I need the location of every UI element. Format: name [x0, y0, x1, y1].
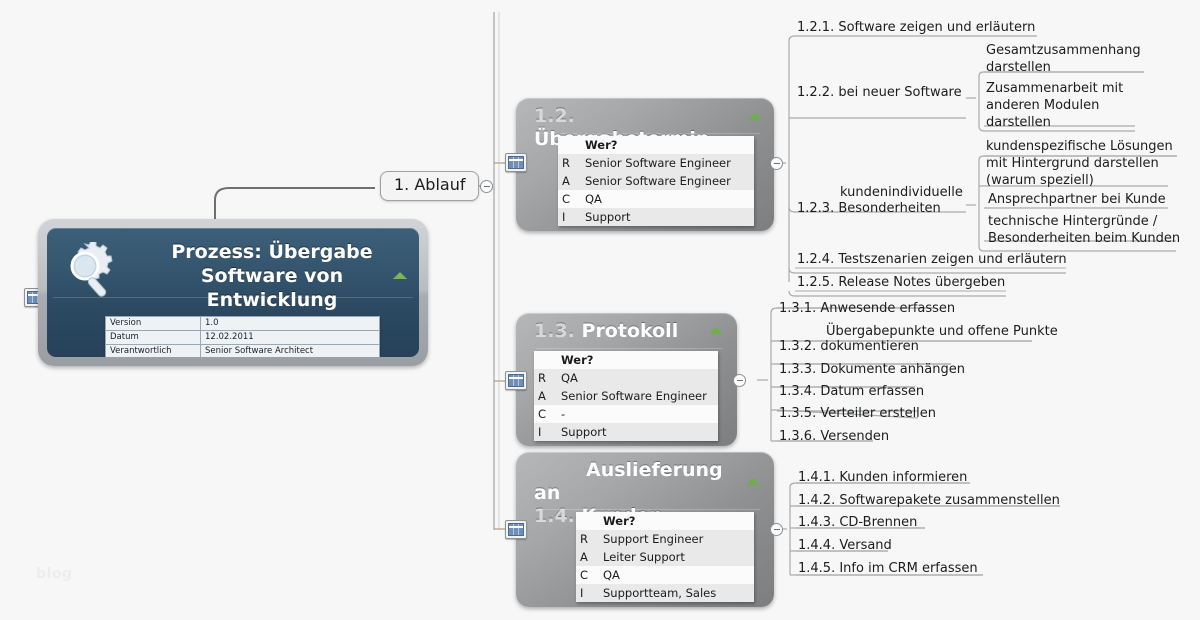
raci-who: Support: [581, 208, 754, 226]
green-triangle-icon-root[interactable]: [393, 272, 407, 279]
raci-spacer: [695, 512, 754, 530]
leaf-1-3-4[interactable]: 1.3.4. Datum erfassen: [779, 383, 924, 400]
node-rule: [536, 348, 723, 349]
watermark: blog: [36, 566, 72, 582]
raci-role: C: [558, 190, 581, 208]
raci-role: I: [558, 208, 581, 226]
table-row: C QA: [558, 190, 754, 208]
leaf-1-4-3[interactable]: 1.4.3. CD-Brennen: [798, 514, 917, 531]
raci-header: Wer?: [599, 512, 695, 530]
table-row: C -: [534, 405, 718, 423]
raci-who: Support Engineer: [599, 530, 754, 548]
table-row: C QA: [576, 566, 754, 584]
raci-who: Senior Software Engineer: [581, 172, 754, 190]
table-row: Wer?: [576, 512, 754, 530]
table-row: Wer?: [558, 136, 754, 154]
collapse-toggle-auslieferung[interactable]: [770, 523, 783, 536]
root-title-line1: Prozess: Übergabe: [171, 241, 372, 263]
raci-role: R: [534, 369, 557, 387]
leaf-1-2-3[interactable]: 1.2.3. Besonderheiten: [797, 200, 941, 217]
leaf-1-2-2[interactable]: 1.2.2. bei neuer Software: [797, 84, 962, 101]
table-row: A Senior Software Engineer: [558, 172, 754, 190]
raci-table-protokoll: Wer? R QA A Senior Software Engineer C -: [534, 351, 718, 441]
raci-role: C: [534, 405, 557, 423]
leaf-1-4-2[interactable]: 1.4.2. Softwarepakete zusammenstellen: [798, 492, 1060, 509]
raci-who: Support: [557, 423, 718, 441]
leaf-1-2-2-a[interactable]: Gesamtzusammenhang darstellen: [986, 42, 1141, 76]
leaf-1-3-2[interactable]: 1.3.2. dokumentieren: [779, 338, 919, 355]
table-row: I Supportteam, Sales: [576, 584, 754, 602]
raci-role: [576, 512, 599, 530]
raci-role: R: [558, 154, 581, 172]
raci-who: QA: [581, 190, 695, 208]
raci-spacer: [695, 136, 754, 154]
leaf-1-2-3-c[interactable]: technische Hintergründe / Besonderheiten…: [988, 213, 1180, 247]
green-triangle-icon-uebergabetermin[interactable]: [748, 113, 762, 120]
leaf-1-4-1[interactable]: 1.4.1. Kunden informieren: [798, 469, 967, 486]
spreadsheet-icon-protokoll[interactable]: [505, 371, 527, 390]
meta-key: Datum: [106, 331, 201, 345]
meta-key: Verantwortlich: [106, 345, 201, 358]
raci-spacer: [659, 405, 718, 423]
node-title-text: Auslieferung an: [534, 459, 723, 504]
root-node-body: Prozess: ÜbergabeSoftware von Entwicklun…: [47, 228, 419, 357]
raci-table-uebergabetermin: Wer? R Senior Software Engineer A Senior…: [558, 136, 754, 226]
raci-role: A: [558, 172, 581, 190]
raci-role: A: [576, 548, 599, 566]
leaf-1-2-3-a[interactable]: kundenspezifische Lösungen mit Hintergru…: [986, 138, 1173, 189]
table-row: I Support: [558, 208, 754, 226]
leaf-1-2-4[interactable]: 1.2.4. Testszenarien zeigen und erläuter…: [797, 251, 1067, 268]
meta-value: 1.0: [201, 317, 380, 331]
node-number: 1.3.: [534, 320, 575, 342]
branch-node-ablauf[interactable]: 1. Ablauf: [380, 171, 479, 201]
leaf-1-4-5[interactable]: 1.4.5. Info im CRM erfassen: [798, 560, 978, 577]
table-row: R Support Engineer: [576, 530, 754, 548]
leaf-1-2-3-top: kundenindividuelle: [840, 184, 963, 201]
root-title: Prozess: ÜbergabeSoftware von Entwicklun…: [137, 240, 407, 312]
table-row: Datum 12.02.2011: [106, 331, 380, 345]
leaf-1-3-1[interactable]: 1.3.1. Anwesende erfassen: [779, 300, 955, 317]
meta-value: Senior Software Architect: [201, 345, 380, 358]
table-row: Version 1.0: [106, 317, 380, 331]
raci-spacer: [659, 369, 718, 387]
raci-who: QA: [599, 566, 695, 584]
table-row: A Leiter Support: [576, 548, 754, 566]
table-row: Verantwortlich Senior Software Architect: [106, 345, 380, 358]
green-triangle-icon-auslieferung[interactable]: [746, 478, 760, 485]
raci-role: A: [534, 387, 557, 405]
leaf-1-2-2-b[interactable]: Zusammenarbeit mit anderen Modulen darst…: [986, 80, 1123, 131]
node-protokoll[interactable]: 1.3. Protokoll Wer? R QA A Senior Softwa…: [516, 313, 737, 446]
leaf-1-2-5[interactable]: 1.2.5. Release Notes übergeben: [797, 274, 1005, 291]
magnifier-gear-icon: [61, 242, 121, 300]
raci-role: C: [576, 566, 599, 584]
meta-value: 12.02.2011: [201, 331, 380, 345]
raci-role: I: [534, 423, 557, 441]
leaf-1-3-5[interactable]: 1.3.5. Verteiler erstellen: [779, 405, 936, 422]
raci-header: Wer?: [557, 351, 659, 369]
node-uebergabetermin[interactable]: 1.2. Übergabetermin Wer? R Senior Softwa…: [516, 98, 774, 231]
leaf-1-3-6[interactable]: 1.3.6. Versenden: [779, 428, 889, 445]
table-row: Wer?: [534, 351, 718, 369]
meta-key: Version: [106, 317, 201, 331]
raci-who: Senior Software Engineer: [557, 387, 718, 405]
spreadsheet-grid: [508, 374, 524, 387]
leaf-1-4-4[interactable]: 1.4.4. Versand: [798, 537, 892, 554]
raci-spacer: [659, 351, 718, 369]
raci-role: R: [576, 530, 599, 548]
root-divider: [53, 297, 413, 298]
collapse-toggle-uebergabetermin[interactable]: [770, 157, 783, 170]
raci-role: [534, 351, 557, 369]
spreadsheet-grid: [508, 523, 524, 536]
leaf-1-2-3-b[interactable]: Ansprechpartner bei Kunde: [988, 191, 1166, 208]
raci-header: Wer?: [581, 136, 695, 154]
raci-table-auslieferung: Wer? R Support Engineer A Leiter Support…: [576, 512, 754, 602]
root-node[interactable]: Prozess: ÜbergabeSoftware von Entwicklun…: [38, 219, 428, 366]
collapse-toggle-protokoll[interactable]: [733, 374, 746, 387]
node-title-protokoll: 1.3. Protokoll: [534, 320, 703, 343]
leaf-1-3-3[interactable]: 1.3.3. Dokumente anhängen: [779, 361, 965, 378]
raci-spacer: [695, 566, 754, 584]
node-rule: [538, 133, 760, 134]
leaf-1-2-1[interactable]: 1.2.1. Software zeigen und erläutern: [797, 19, 1035, 36]
spreadsheet-icon-auslieferung[interactable]: [505, 520, 527, 539]
raci-role: [558, 136, 581, 154]
collapse-toggle-ablauf[interactable]: [480, 180, 493, 193]
raci-who: Supportteam, Sales: [599, 584, 754, 602]
table-row: A Senior Software Engineer: [534, 387, 718, 405]
raci-who: -: [557, 405, 659, 423]
node-auslieferung[interactable]: Auslieferung an 1.4. Kunden Wer? R Suppo…: [516, 452, 774, 607]
spreadsheet-grid: [508, 156, 524, 169]
raci-who: Senior Software Engineer: [581, 154, 754, 172]
node-title-text: Protokoll: [582, 320, 679, 342]
table-row: R QA: [534, 369, 718, 387]
node-rule: [538, 509, 760, 510]
green-triangle-icon-protokoll[interactable]: [709, 327, 723, 334]
node-number: 1.2.: [534, 105, 575, 127]
table-row: R Senior Software Engineer: [558, 154, 754, 172]
raci-spacer: [695, 190, 754, 208]
table-row: I Support: [534, 423, 718, 441]
mindmap-canvas: Prozess: ÜbergabeSoftware von Entwicklun…: [0, 0, 1200, 620]
root-meta-table: Version 1.0 Datum 12.02.2011 Verantwortl…: [105, 316, 380, 357]
raci-who: Leiter Support: [599, 548, 754, 566]
raci-who: QA: [557, 369, 659, 387]
spreadsheet-icon-uebergabetermin[interactable]: [505, 153, 527, 172]
raci-role: I: [576, 584, 599, 602]
root-title-line2: Software von Entwicklung: [201, 265, 343, 311]
